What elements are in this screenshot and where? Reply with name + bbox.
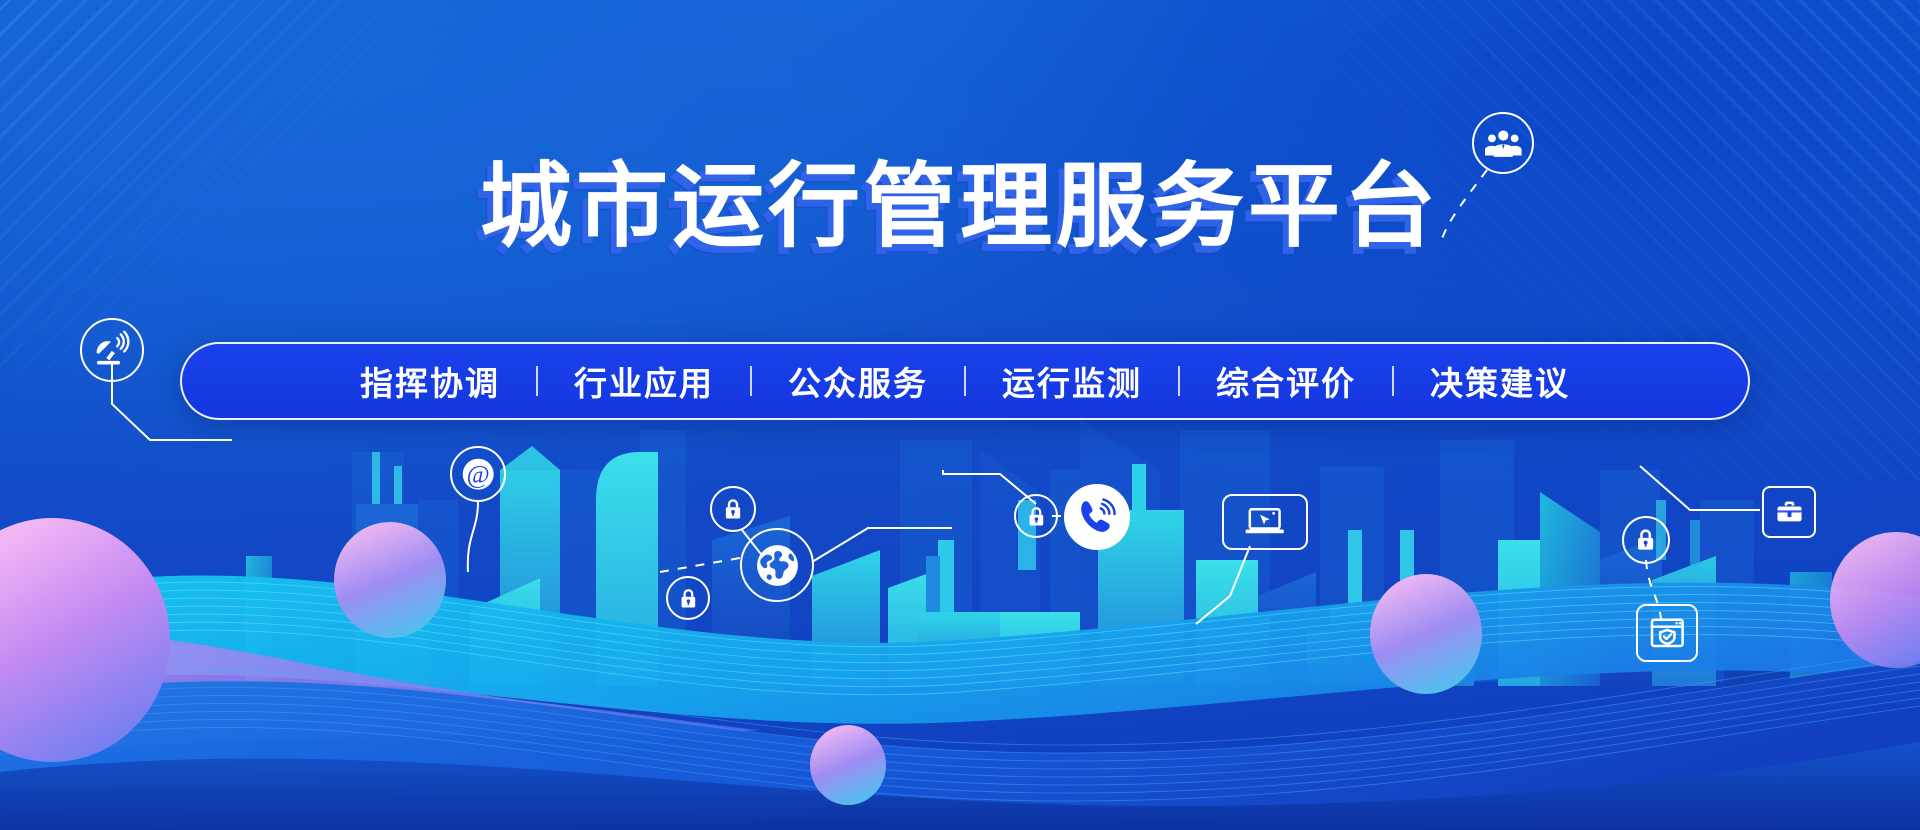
satellite-dish-icon[interactable] <box>80 318 144 382</box>
browser-shield-icon[interactable] <box>1636 604 1698 662</box>
svg-text:@: @ <box>466 461 489 488</box>
at-sign-icon[interactable]: @ <box>450 446 506 502</box>
briefcase-icon[interactable] <box>1762 486 1816 538</box>
banner-stage: @ <box>0 0 1920 830</box>
lock-icon-2[interactable] <box>666 576 710 620</box>
nav-item-0[interactable]: 指挥协调 <box>324 357 536 405</box>
nav-item-5[interactable]: 决策建议 <box>1394 357 1606 405</box>
nav-item-1[interactable]: 行业应用 <box>538 357 750 405</box>
lock-icon-4[interactable] <box>1622 516 1670 564</box>
nav-items-container: 指挥协调 行业应用 公众服务 运行监测 综合评价 决策建议 <box>324 357 1606 405</box>
nav-item-3[interactable]: 运行监测 <box>966 357 1178 405</box>
lock-icon-1[interactable] <box>710 486 756 532</box>
page-title: 城市运行管理服务平台 <box>480 160 1440 256</box>
lock-icon-3[interactable] <box>1014 494 1058 538</box>
laptop-cursor-icon[interactable] <box>1222 494 1308 550</box>
main-navigation-bar[interactable]: 指挥协调 行业应用 公众服务 运行监测 综合评价 决策建议 <box>180 342 1750 420</box>
nav-item-4[interactable]: 综合评价 <box>1180 357 1392 405</box>
phone-ring-icon[interactable] <box>1064 484 1130 550</box>
page-title-wrapper: 城市运行管理服务平台 <box>0 160 1920 256</box>
globe-icon[interactable] <box>740 528 814 602</box>
nav-item-2[interactable]: 公众服务 <box>752 357 964 405</box>
